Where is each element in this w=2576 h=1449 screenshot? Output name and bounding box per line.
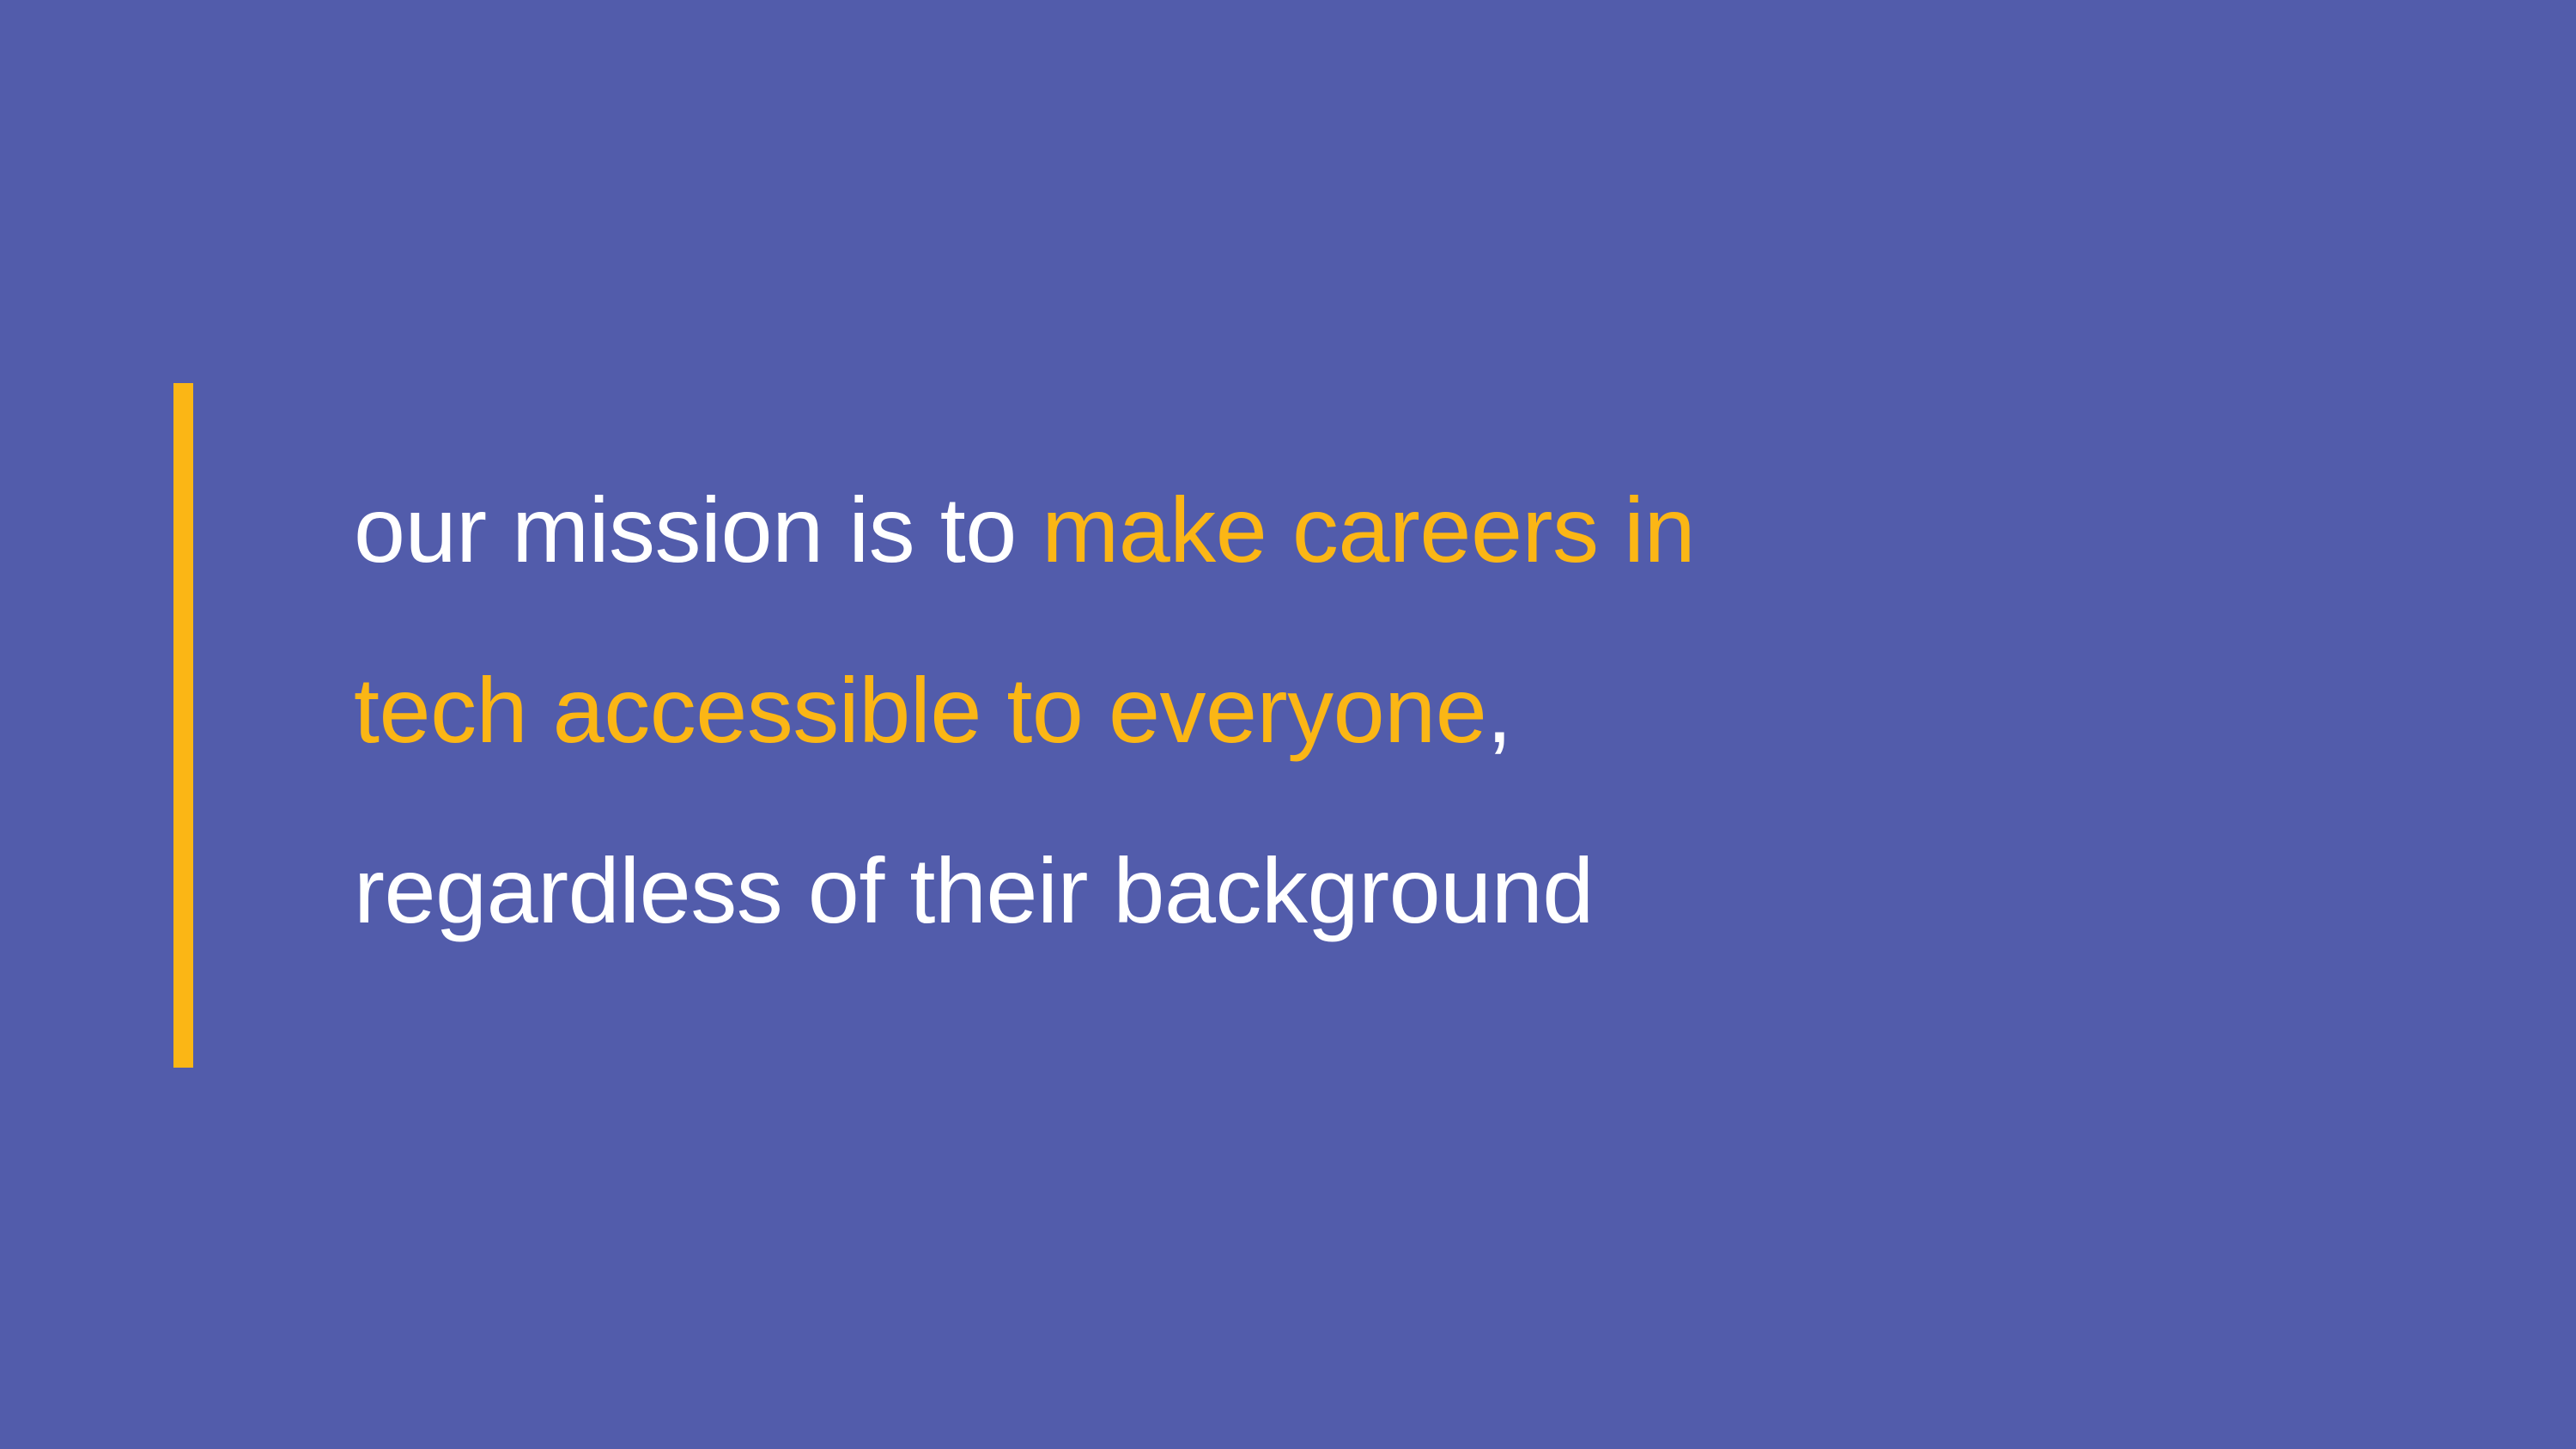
- mission-quote-block: our mission is to make careers in tech a…: [354, 440, 2329, 981]
- slide-canvas: our mission is to make careers in tech a…: [0, 0, 2576, 1449]
- quote-line-3: regardless of their background: [354, 801, 2329, 981]
- vertical-accent-bar: [173, 383, 193, 1068]
- quote-line-2-plain-segment: ,: [1486, 658, 1512, 762]
- quote-line-3-plain-segment: regardless of their background: [354, 838, 1594, 942]
- quote-line-2-accent-segment: tech accessible to everyone: [354, 658, 1486, 762]
- quote-line-2: tech accessible to everyone,: [354, 620, 2329, 801]
- quote-line-1: our mission is to make careers in: [354, 440, 2329, 620]
- quote-line-1-accent-segment: make careers in: [1042, 478, 1695, 581]
- quote-line-1-plain-segment: our mission is to: [354, 478, 1042, 581]
